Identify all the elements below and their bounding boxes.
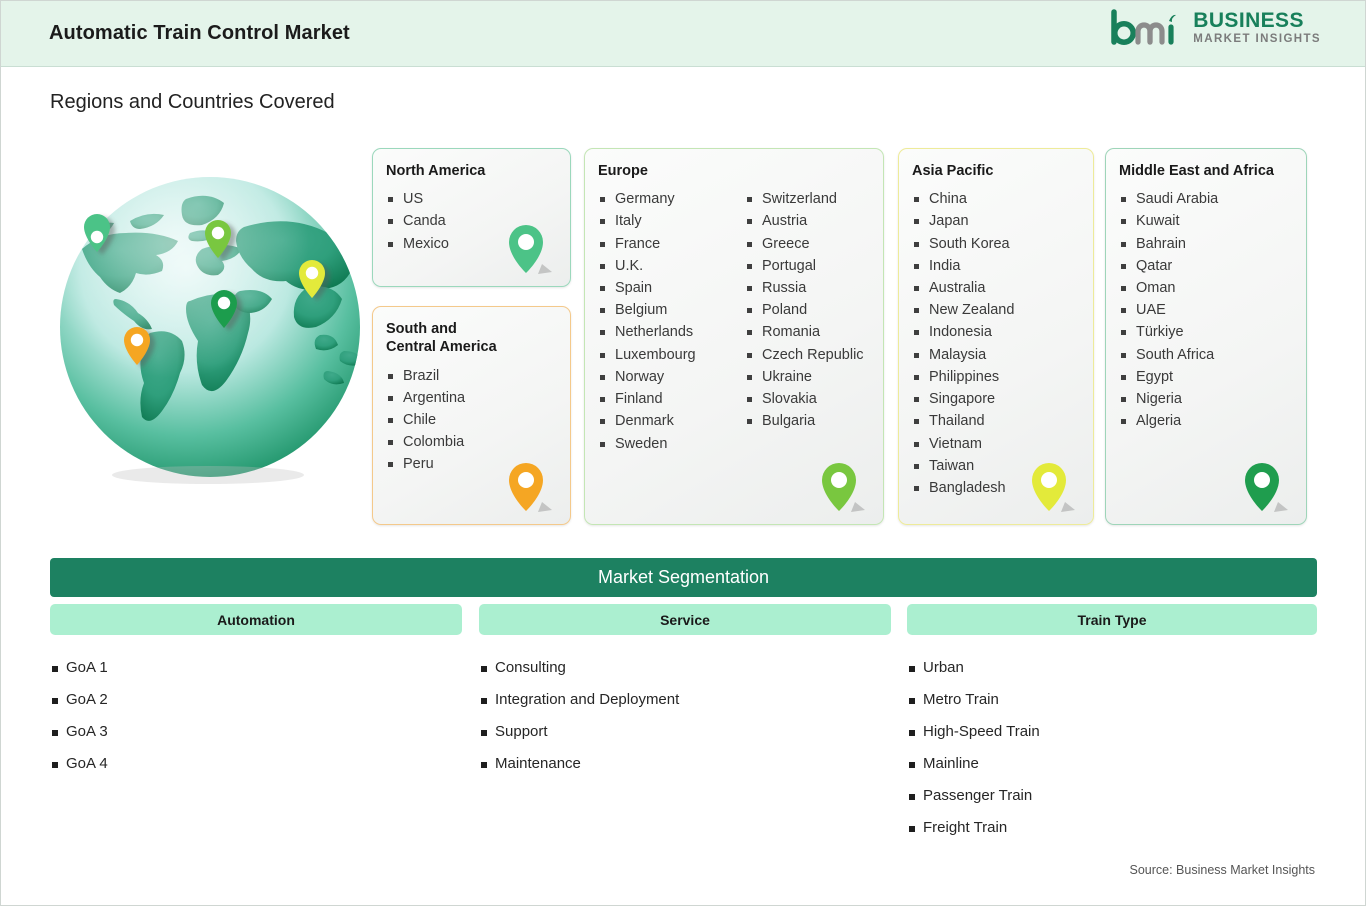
country-item: Bulgaria <box>745 410 864 432</box>
country-item: Colombia <box>386 431 465 453</box>
country-item: Australia <box>912 277 1014 299</box>
region-title: South and Central America <box>386 320 570 357</box>
location-pin-icon <box>817 460 869 518</box>
country-item: Finland <box>598 388 745 410</box>
segmentation-header: Train Type <box>907 604 1317 635</box>
country-item: Romania <box>745 321 864 343</box>
country-item: Sweden <box>598 433 745 455</box>
country-item: Czech Republic <box>745 344 864 366</box>
country-item: Canda <box>386 210 449 232</box>
country-item: Greece <box>745 233 864 255</box>
country-item: U.K. <box>598 255 745 277</box>
country-item: Denmark <box>598 410 745 432</box>
brand-wordmark: BUSINESS MARKET INSIGHTS <box>1193 10 1321 46</box>
country-item: Italy <box>598 210 745 232</box>
page-header: Automatic Train Control Market BUSINESS … <box>1 1 1365 67</box>
country-item: Austria <box>745 210 864 232</box>
brand-logo: BUSINESS MARKET INSIGHTS <box>1110 9 1321 47</box>
region-card-europe[interactable]: Europe Germany Italy France U.K. Spain B… <box>584 148 884 525</box>
segmentation-item: Consulting <box>479 652 891 684</box>
country-item: Belgium <box>598 299 745 321</box>
country-item: Singapore <box>912 388 1014 410</box>
country-item: Argentina <box>386 387 465 409</box>
segmentation-column-automation: Automation GoA 1 GoA 2 GoA 3 GoA 4 <box>50 604 462 780</box>
country-item: Norway <box>598 366 745 388</box>
country-item: Slovakia <box>745 388 864 410</box>
country-list: Germany Italy France U.K. Spain Belgium … <box>598 188 883 454</box>
country-item: Qatar <box>1119 255 1218 277</box>
market-segmentation-label: Market Segmentation <box>598 567 769 588</box>
segmentation-item: High-Speed Train <box>907 716 1317 748</box>
country-item: Thailand <box>912 410 1014 432</box>
country-item: Ukraine <box>745 366 864 388</box>
location-pin-icon <box>504 460 556 518</box>
country-item: UAE <box>1119 299 1218 321</box>
country-item: Netherlands <box>598 321 745 343</box>
country-item: Brazil <box>386 365 465 387</box>
segmentation-list: Urban Metro Train High-Speed Train Mainl… <box>907 652 1317 844</box>
region-card-south-central-america[interactable]: South and Central America Brazil Argenti… <box>372 306 571 525</box>
segmentation-header: Service <box>479 604 891 635</box>
country-item: Spain <box>598 277 745 299</box>
country-item: Saudi Arabia <box>1119 188 1218 210</box>
country-item: India <box>912 255 1014 277</box>
country-item: Malaysia <box>912 344 1014 366</box>
country-item: Luxembourg <box>598 344 745 366</box>
segmentation-list: GoA 1 GoA 2 GoA 3 GoA 4 <box>50 652 462 780</box>
segmentation-column-train-type: Train Type Urban Metro Train High-Speed … <box>907 604 1317 844</box>
segmentation-item: GoA 2 <box>50 684 462 716</box>
country-item: France <box>598 233 745 255</box>
segmentation-list: Consulting Integration and Deployment Su… <box>479 652 891 780</box>
country-item: Türkiye <box>1119 321 1218 343</box>
country-column-right: Switzerland Austria Greece Portugal Russ… <box>745 188 864 454</box>
country-item: Bahrain <box>1119 233 1218 255</box>
country-item: Vietnam <box>912 433 1014 455</box>
country-list: Saudi Arabia Kuwait Bahrain Qatar Oman U… <box>1119 188 1306 432</box>
region-title: North America <box>386 162 570 180</box>
country-item: Indonesia <box>912 321 1014 343</box>
section-heading: Regions and Countries Covered <box>50 91 335 114</box>
segmentation-item: Support <box>479 716 891 748</box>
region-title-line2: Central America <box>386 338 570 356</box>
country-item: Kuwait <box>1119 210 1218 232</box>
location-pin-icon <box>1240 460 1292 518</box>
country-item: Mexico <box>386 233 449 255</box>
country-item: Oman <box>1119 277 1218 299</box>
country-item: Chile <box>386 409 465 431</box>
segmentation-item: Mainline <box>907 748 1317 780</box>
region-title: Asia Pacific <box>912 162 1093 180</box>
country-list: Brazil Argentina Chile Colombia Peru <box>386 365 570 476</box>
location-pin-icon <box>504 222 556 280</box>
segmentation-item: Metro Train <box>907 684 1317 716</box>
country-list: China Japan South Korea India Australia … <box>912 188 1093 499</box>
segmentation-item: Freight Train <box>907 812 1317 844</box>
segmentation-item: GoA 3 <box>50 716 462 748</box>
region-card-north-america[interactable]: North America US Canda Mexico <box>372 148 571 287</box>
country-item: China <box>912 188 1014 210</box>
country-item: Switzerland <box>745 188 864 210</box>
country-item: Bangladesh <box>912 477 1014 499</box>
segmentation-item: Maintenance <box>479 748 891 780</box>
page-title: Automatic Train Control Market <box>49 22 350 45</box>
country-column-left: Germany Italy France U.K. Spain Belgium … <box>598 188 745 454</box>
country-item: Portugal <box>745 255 864 277</box>
country-item: New Zealand <box>912 299 1014 321</box>
segmentation-column-service: Service Consulting Integration and Deplo… <box>479 604 891 780</box>
region-title-line1: South and <box>386 320 570 338</box>
country-item: South Korea <box>912 233 1014 255</box>
country-item: Peru <box>386 453 465 475</box>
market-segmentation-bar: Market Segmentation <box>50 558 1317 597</box>
segmentation-item: Passenger Train <box>907 780 1317 812</box>
country-item: Germany <box>598 188 745 210</box>
segmentation-item: GoA 4 <box>50 748 462 780</box>
segmentation-item: GoA 1 <box>50 652 462 684</box>
location-pin-icon <box>1027 460 1079 518</box>
infographic-page: Automatic Train Control Market BUSINESS … <box>0 0 1366 906</box>
bmi-logo-icon <box>1110 9 1184 47</box>
source-note: Source: Business Market Insights <box>1130 863 1316 877</box>
country-item: Poland <box>745 299 864 321</box>
country-item: Russia <box>745 277 864 299</box>
region-title: Europe <box>598 162 883 180</box>
country-item: Japan <box>912 210 1014 232</box>
region-card-asia-pacific[interactable]: Asia Pacific China Japan South Korea Ind… <box>898 148 1094 525</box>
country-item: Taiwan <box>912 455 1014 477</box>
country-item: Philippines <box>912 366 1014 388</box>
country-item: Algeria <box>1119 410 1218 432</box>
country-item: South Africa <box>1119 344 1218 366</box>
segmentation-item: Urban <box>907 652 1317 684</box>
region-card-middle-east-africa[interactable]: Middle East and Africa Saudi Arabia Kuwa… <box>1105 148 1307 525</box>
country-item: US <box>386 188 449 210</box>
segmentation-item: Integration and Deployment <box>479 684 891 716</box>
country-item: Egypt <box>1119 366 1218 388</box>
brand-primary: BUSINESS <box>1193 10 1321 31</box>
world-globe <box>58 175 366 485</box>
country-item: Nigeria <box>1119 388 1218 410</box>
region-title: Middle East and Africa <box>1119 162 1306 180</box>
brand-secondary: MARKET INSIGHTS <box>1193 34 1321 46</box>
segmentation-header: Automation <box>50 604 462 635</box>
